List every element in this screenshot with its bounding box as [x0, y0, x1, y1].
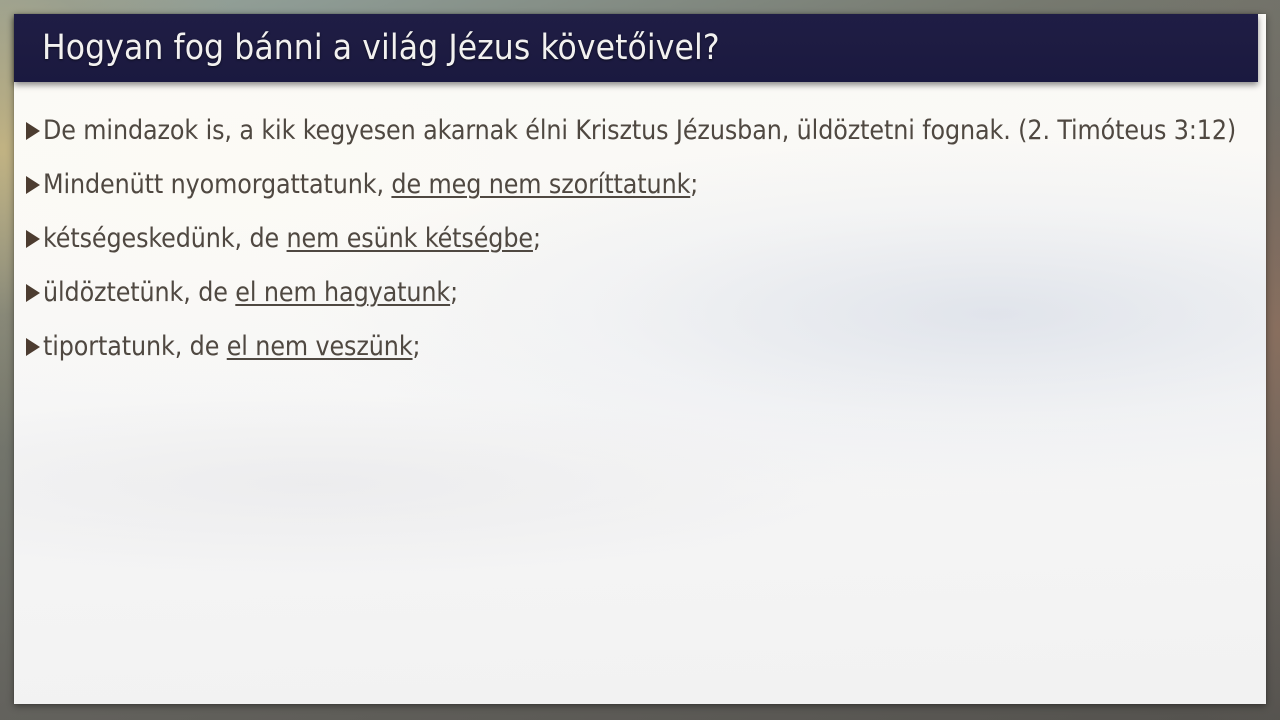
- bullet-item-text: De mindazok is, a kik kegyesen akarnak é…: [43, 104, 1236, 158]
- bullet-item-text: Mindenütt nyomorgattatunk, de meg nem sz…: [43, 158, 698, 212]
- bullet-text-underlined: el nem hagyatunk: [235, 277, 450, 308]
- bullet-text-plain: ;: [533, 223, 541, 254]
- triangle-right-icon: [26, 284, 40, 302]
- triangle-right-icon: [26, 122, 40, 140]
- bullet-text-plain: ;: [690, 169, 698, 200]
- bullet-text-plain: tiportatunk, de: [43, 331, 227, 362]
- bullet-item: üldöztetünk, de el nem hagyatunk;: [26, 266, 1252, 320]
- slide-title: Hogyan fog bánni a világ Jézus követőive…: [42, 28, 720, 68]
- slide-backdrop: Hogyan fog bánni a világ Jézus követőive…: [0, 0, 1280, 720]
- triangle-right-icon: [26, 230, 40, 248]
- bullet-list: De mindazok is, a kik kegyesen akarnak é…: [26, 104, 1252, 374]
- bullet-item: kétségeskedünk, de nem esünk kétségbe;: [26, 212, 1252, 266]
- bullet-text-plain: kétségeskedünk, de: [43, 223, 287, 254]
- triangle-right-icon: [26, 176, 40, 194]
- bullet-text-plain: Mindenütt nyomorgattatunk,: [43, 169, 391, 200]
- bullet-item: tiportatunk, de el nem veszünk;: [26, 320, 1252, 374]
- bullet-item: De mindazok is, a kik kegyesen akarnak é…: [26, 104, 1252, 158]
- bullet-item-text: kétségeskedünk, de nem esünk kétségbe;: [43, 212, 541, 266]
- bullet-text-plain: ;: [413, 331, 421, 362]
- triangle-right-icon: [26, 338, 40, 356]
- bullet-text-underlined: nem esünk kétségbe: [287, 223, 533, 254]
- bullet-text-plain: ;: [450, 277, 458, 308]
- slide-title-bar: Hogyan fog bánni a világ Jézus követőive…: [14, 14, 1258, 82]
- bullet-text-plain: De mindazok is, a kik kegyesen akarnak é…: [43, 115, 1236, 146]
- bullet-item-text: üldöztetünk, de el nem hagyatunk;: [43, 266, 458, 320]
- bullet-text-plain: üldöztetünk, de: [43, 277, 235, 308]
- bullet-item: Mindenütt nyomorgattatunk, de meg nem sz…: [26, 158, 1252, 212]
- bullet-item-text: tiportatunk, de el nem veszünk;: [43, 320, 420, 374]
- bullet-text-underlined: el nem veszünk: [227, 331, 413, 362]
- bullet-text-underlined: de meg nem szoríttatunk: [391, 169, 690, 200]
